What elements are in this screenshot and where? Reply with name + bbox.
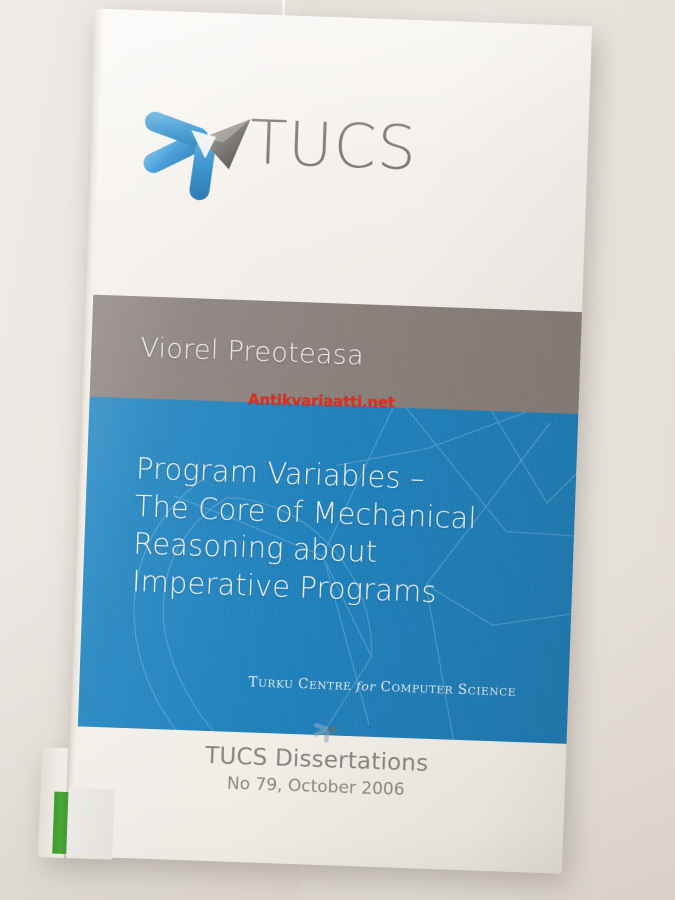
tagline-w1-rest: URKU — [258, 678, 294, 691]
tagline-w4-rest: OMPUTER — [391, 683, 453, 697]
tagline-w4-initial: C — [380, 679, 392, 695]
library-label-white — [66, 788, 114, 860]
tagline-w2-initial: C — [298, 676, 310, 692]
library-label-green — [52, 792, 68, 854]
tagline-w2-rest: ENTRE — [309, 680, 352, 694]
site-watermark-stamp: Antikvariaatti.net — [248, 390, 395, 411]
tagline-w1-initial: T — [248, 674, 258, 690]
tucs-logo: TUCS — [140, 84, 445, 245]
tucs-arrow-logo-icon — [142, 84, 254, 204]
book-cover-photo: TUCS Viorel Preoteasa Program Variables … — [0, 0, 675, 900]
front-cover: TUCS Viorel Preoteasa Program Variables … — [64, 8, 592, 873]
tucs-wordmark: TUCS — [249, 112, 418, 179]
book-object: TUCS Viorel Preoteasa Program Variables … — [64, 8, 592, 873]
tucs-arrow-logo-small-icon — [312, 717, 339, 744]
tagline-for: for — [356, 678, 376, 694]
book-title: Program Variables – The Core of Mechanic… — [131, 450, 556, 616]
tagline-w5-rest: CIENCE — [467, 685, 516, 699]
